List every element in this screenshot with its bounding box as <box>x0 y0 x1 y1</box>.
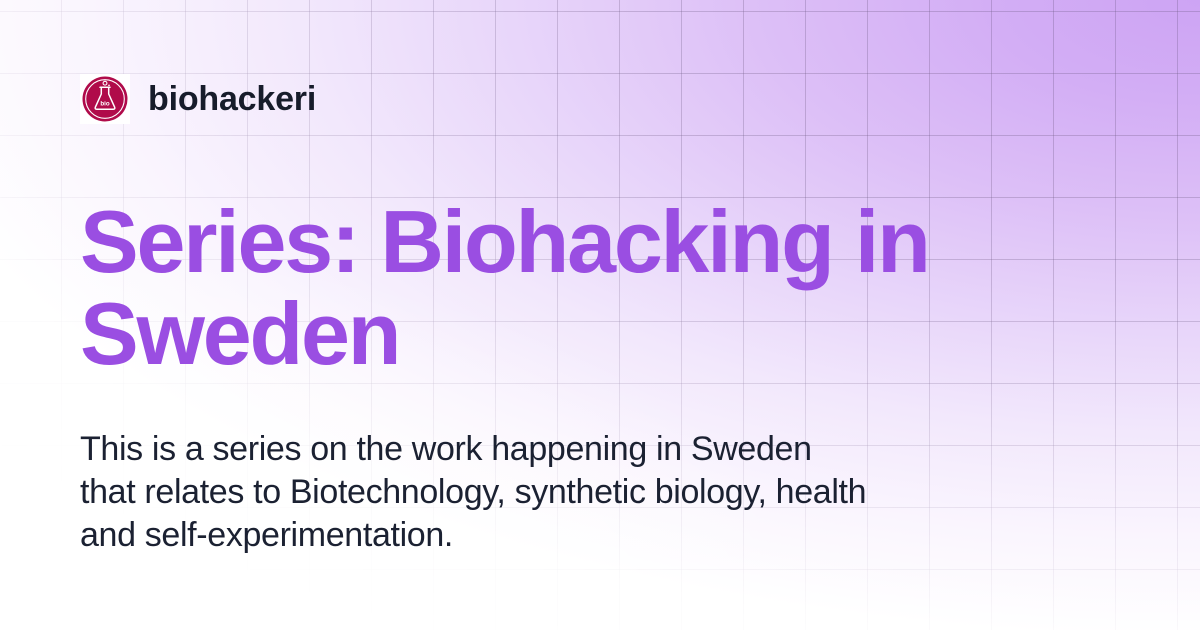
flask-circle-logo-icon: bio <box>80 74 130 124</box>
page-description: This is a series on the work happening i… <box>80 428 870 556</box>
logo-inner-label: bio <box>100 101 109 108</box>
page-title: Series: Biohacking in Sweden <box>80 196 980 379</box>
card-content: bio biohackeri Series: Biohacking in Swe… <box>0 0 1200 630</box>
og-card: bio biohackeri Series: Biohacking in Swe… <box>0 0 1200 630</box>
brand-lockup: bio biohackeri <box>80 74 316 124</box>
brand-name: biohackeri <box>148 82 316 116</box>
